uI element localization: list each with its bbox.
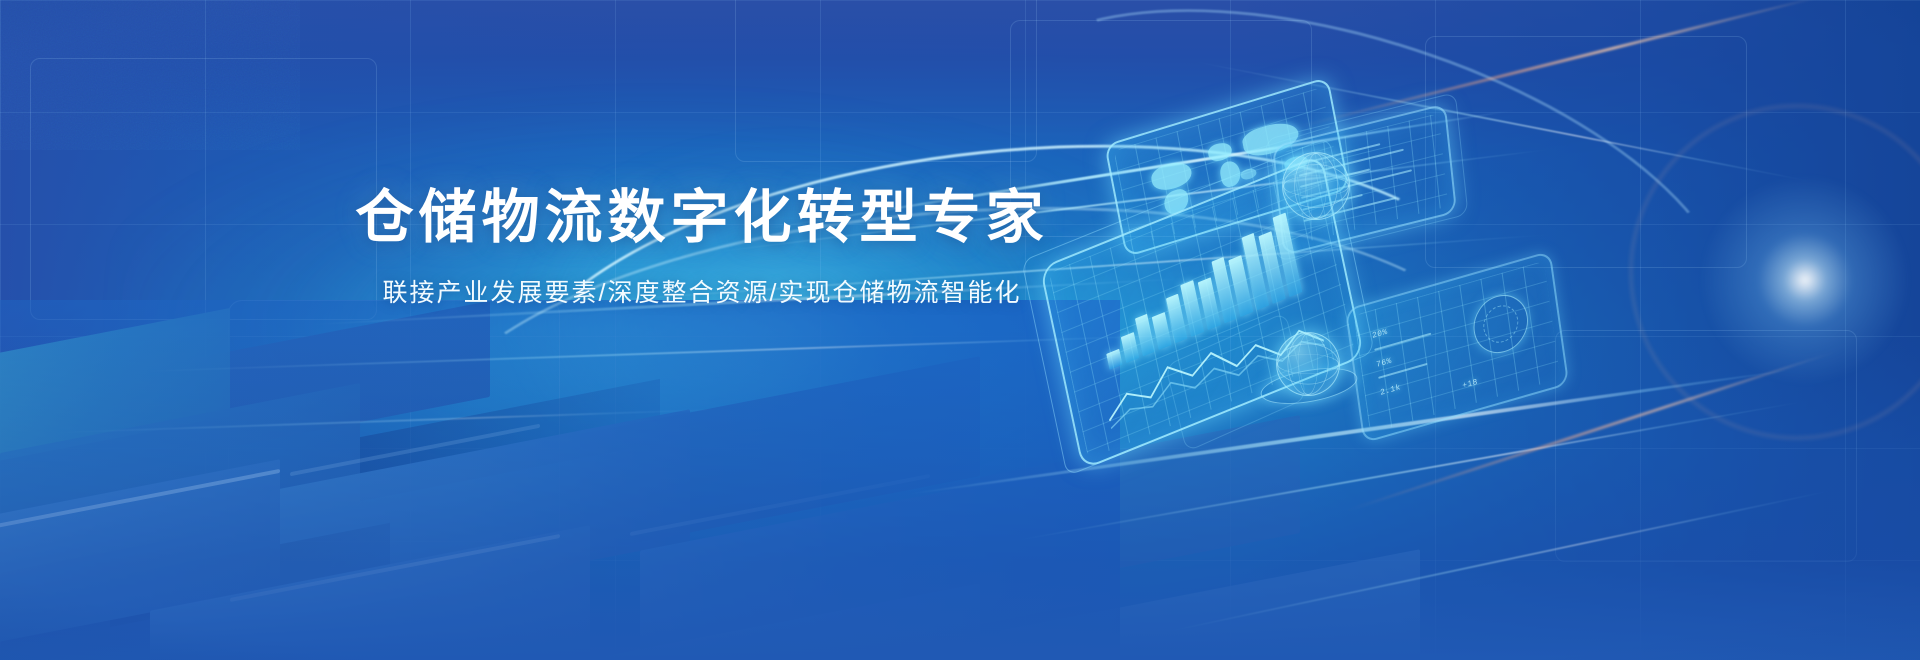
banner-subheadline: 联接产业发展要素/深度整合资源/实现仓储物流智能化 xyxy=(322,277,1082,310)
globe-parallel xyxy=(1283,164,1349,208)
holographic-device-cluster: 20% 76% 2.1k +18 xyxy=(1020,70,1660,490)
metric-readout: 76% xyxy=(1376,356,1393,369)
lens-flare xyxy=(1700,175,1910,385)
gauge-icon xyxy=(1470,288,1532,359)
chart-bar xyxy=(1121,332,1139,363)
metric-readout: 2.1k xyxy=(1380,383,1402,398)
metric-readout: 20% xyxy=(1372,328,1389,341)
globe-icon xyxy=(1282,152,1350,220)
banner-copy: 仓储物流数字化转型专家 联接产业发展要素/深度整合资源/实现仓储物流智能化 xyxy=(322,186,1082,309)
continent-shape xyxy=(1240,167,1257,181)
banner-headline: 仓储物流数字化转型专家 xyxy=(322,186,1082,251)
hero-banner: 20% 76% 2.1k +18 仓储物流数字化转型专家 联接产业发展要素/深度… xyxy=(0,0,1920,660)
globe-icon xyxy=(1276,332,1340,396)
globe-parallel xyxy=(1277,344,1339,385)
chart-bar xyxy=(1152,312,1172,350)
continent-shape xyxy=(1150,158,1193,194)
metrics-panel: 20% 76% 2.1k +18 xyxy=(1345,251,1570,444)
metric-readout: +18 xyxy=(1462,378,1479,391)
panel-grid-overlay: 20% 76% 2.1k +18 xyxy=(1354,261,1561,434)
chart-bar xyxy=(1107,349,1123,370)
continent-shape xyxy=(1218,159,1242,189)
